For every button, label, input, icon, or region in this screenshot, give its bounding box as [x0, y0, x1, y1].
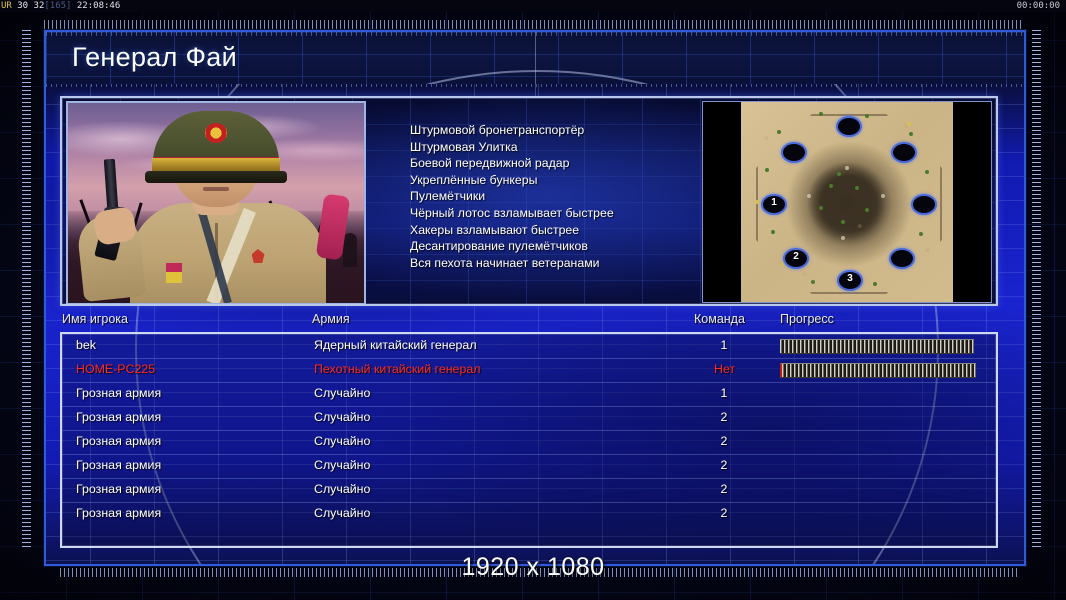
- table-row[interactable]: bek Ядерный китайский генерал 1: [62, 334, 996, 359]
- resolution-caption: 1920 x 1080: [0, 552, 1066, 582]
- map-rock: [807, 194, 811, 198]
- table-row[interactable]: Грозная армия Случайно 2: [62, 502, 996, 526]
- cell-player-name: Грозная армия: [76, 482, 161, 496]
- map-letterbox-left: [703, 102, 741, 302]
- cell-player-name: bek: [76, 338, 96, 352]
- map-start-position[interactable]: [836, 116, 862, 137]
- cell-team: 2: [714, 434, 734, 448]
- map-tree: [865, 208, 869, 212]
- map-rock: [881, 194, 885, 198]
- cell-player-name: HOME-PC225: [76, 362, 155, 376]
- title-rule-decoration: [46, 32, 1024, 36]
- status-bar-left: UR 30 32[165] 22:08:46: [1, 0, 120, 12]
- map-tree: [841, 220, 845, 224]
- cell-army: Пехотный китайский генерал: [314, 362, 480, 376]
- ability-item: Пулемётчики: [410, 188, 740, 205]
- cell-army: Ядерный китайский генерал: [314, 338, 477, 352]
- map-resource: [755, 200, 759, 204]
- page-title: Генерал Фай: [72, 41, 237, 73]
- status-bracket: [165]: [44, 1, 71, 11]
- table-header-row: Имя игрока Армия Команда Прогресс: [62, 312, 992, 332]
- map-tree: [865, 114, 869, 118]
- ability-item: Чёрный лотос взламывает быстрее: [410, 205, 740, 222]
- cell-team: 2: [714, 506, 734, 520]
- map-resource: [907, 122, 911, 126]
- map-rock: [845, 166, 849, 170]
- cell-player-name: Грозная армия: [76, 434, 161, 448]
- status-bar-right: 00:00:00: [1017, 0, 1060, 12]
- map-tree: [765, 168, 769, 172]
- map-tree: [829, 184, 833, 188]
- portrait-mouth: [203, 187, 229, 191]
- portrait-troop: [343, 233, 357, 267]
- map-tree: [919, 232, 923, 236]
- map-tree: [811, 280, 815, 284]
- table-row[interactable]: Грозная армия Случайно 2: [62, 454, 996, 479]
- table-row[interactable]: HOME-PC225 Пехотный китайский генерал Не…: [62, 358, 996, 383]
- cell-team: 1: [714, 338, 734, 352]
- main-window: Генерал Фай: [44, 30, 1026, 566]
- map-tree: [855, 186, 859, 190]
- column-header-team: Команда: [694, 312, 745, 326]
- title-bar: Генерал Фай: [46, 32, 1024, 86]
- map-tree: [819, 206, 823, 210]
- content-rule-decoration: [46, 84, 1024, 87]
- column-header-player: Имя игрока: [62, 312, 128, 326]
- portrait-cap-band: [152, 158, 280, 171]
- table-row[interactable]: Грозная армия Случайно 2: [62, 478, 996, 503]
- map-tree: [925, 170, 929, 174]
- map-start-position[interactable]: [781, 142, 807, 163]
- cell-player-name: Грозная армия: [76, 458, 161, 472]
- cell-army: Случайно: [314, 410, 370, 424]
- general-portrait: [66, 101, 366, 305]
- cell-team: 2: [714, 458, 734, 472]
- status-clock: 22:08:46: [77, 1, 120, 11]
- map-preview: 1 2 3: [702, 101, 992, 303]
- cell-player-name: Грозная армия: [76, 410, 161, 424]
- map-letterbox-right: [953, 102, 991, 302]
- status-value-1: 30: [17, 1, 28, 11]
- map-tree: [819, 112, 823, 116]
- cell-army: Случайно: [314, 506, 370, 520]
- loading-screen: UR 30 32[165] 22:08:46 00:00:00 Генерал …: [0, 0, 1066, 600]
- table-row[interactable]: Грозная армия Случайно 2: [62, 406, 996, 431]
- map-tree: [777, 130, 781, 134]
- map-start-position-2[interactable]: 2: [783, 248, 809, 269]
- status-tag: UR: [1, 1, 12, 11]
- map-tree: [771, 230, 775, 234]
- column-header-army: Армия: [312, 312, 350, 326]
- progress-bar: [780, 339, 974, 354]
- column-header-progress: Прогресс: [780, 312, 834, 326]
- cell-army: Случайно: [314, 458, 370, 472]
- ability-list: Штурмовой бронетранспортёр Штурмовая Ули…: [410, 122, 740, 271]
- ability-item: Штурмовая Улитка: [410, 139, 740, 156]
- portrait-cap-badge: [205, 123, 227, 143]
- map-start-position[interactable]: [911, 194, 937, 215]
- map-tree: [873, 282, 877, 286]
- ability-item: Вся пехота начинает ветеранами: [410, 255, 740, 272]
- cell-army: Случайно: [314, 482, 370, 496]
- ability-item: Укреплённые бункеры: [410, 172, 740, 189]
- cell-team: Нет: [714, 362, 734, 376]
- cell-army: Случайно: [314, 386, 370, 400]
- map-start-position[interactable]: [891, 142, 917, 163]
- cell-team: 2: [714, 410, 734, 424]
- table-row[interactable]: Грозная армия Случайно 2: [62, 430, 996, 455]
- cell-player-name: Грозная армия: [76, 506, 161, 520]
- map-rock: [841, 236, 845, 240]
- ability-item: Штурмовой бронетранспортёр: [410, 122, 740, 139]
- general-info-panel: Штурмовой бронетранспортёр Штурмовая Ули…: [60, 96, 998, 306]
- cell-team: 1: [714, 386, 734, 400]
- map-start-position-3[interactable]: 3: [837, 270, 863, 291]
- portrait-cap-brim: [145, 171, 287, 183]
- title-vline-decoration: [535, 32, 536, 84]
- cell-team: 2: [714, 482, 734, 496]
- map-start-position-1[interactable]: 1: [761, 194, 787, 215]
- cell-player-name: Грозная армия: [76, 386, 161, 400]
- content-panel: Штурмовой бронетранспортёр Штурмовая Ули…: [46, 84, 1024, 564]
- map-tree: [909, 132, 913, 136]
- ability-item: Десантирование пулемётчиков: [410, 238, 740, 255]
- cell-army: Случайно: [314, 434, 370, 448]
- status-bar: UR 30 32[165] 22:08:46 00:00:00: [0, 0, 1066, 12]
- ability-item: Боевой передвижной радар: [410, 155, 740, 172]
- table-row[interactable]: Грозная армия Случайно 1: [62, 382, 996, 407]
- map-start-position[interactable]: [889, 248, 915, 269]
- map-tree: [837, 172, 841, 176]
- ability-item: Хакеры взламывают быстрее: [410, 222, 740, 239]
- map-terrain: 1 2 3: [741, 102, 953, 302]
- portrait-medal: [166, 263, 182, 283]
- player-table: bek Ядерный китайский генерал 1 HOME-PC2…: [60, 332, 998, 548]
- progress-bar: [780, 363, 976, 378]
- status-value-2: 32: [34, 1, 45, 11]
